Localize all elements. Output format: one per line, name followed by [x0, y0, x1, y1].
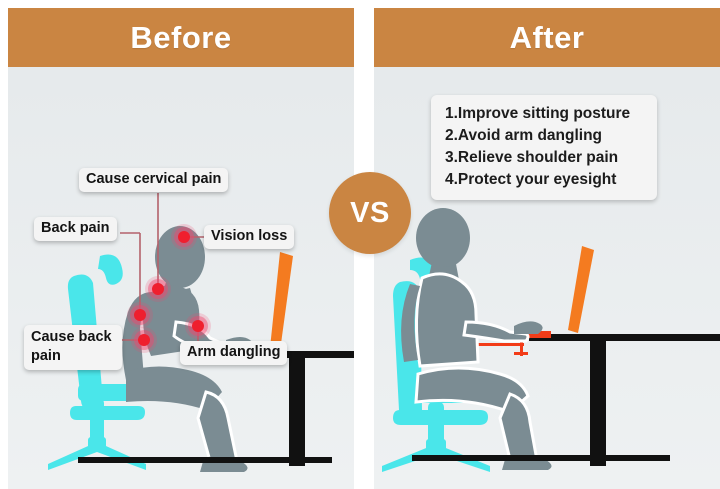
tips-list-after: 1.Improve sitting posture 2.Avoid arm da… [431, 95, 657, 200]
label-back-pain: Back pain [34, 217, 117, 241]
hotspot-back [134, 309, 146, 321]
tip-item: 3.Relieve shoulder pain [431, 147, 657, 169]
panel-after: After [374, 0, 720, 489]
infographic-canvas: Before [0, 0, 720, 489]
illustration-after [374, 0, 720, 489]
label-arm-dangling: Arm dangling [180, 341, 287, 365]
panel-before: Before [8, 0, 354, 489]
hotspot-cervical [152, 283, 164, 295]
tip-item: 4.Protect your eyesight [431, 169, 657, 191]
tip-item: 2.Avoid arm dangling [431, 125, 657, 147]
illustration-before [8, 0, 354, 489]
hotspot-cause-back [138, 334, 150, 346]
tip-item: 1.Improve sitting posture [431, 103, 657, 125]
label-cause-cervical-pain: Cause cervical pain [79, 168, 228, 192]
vs-badge: VS [329, 172, 411, 254]
hotspot-arm [192, 320, 204, 332]
hotspot-vision [178, 231, 190, 243]
label-cause-back-pain: Cause back pain [24, 325, 122, 370]
vs-badge-label: VS [350, 197, 390, 230]
label-vision-loss: Vision loss [204, 225, 294, 249]
